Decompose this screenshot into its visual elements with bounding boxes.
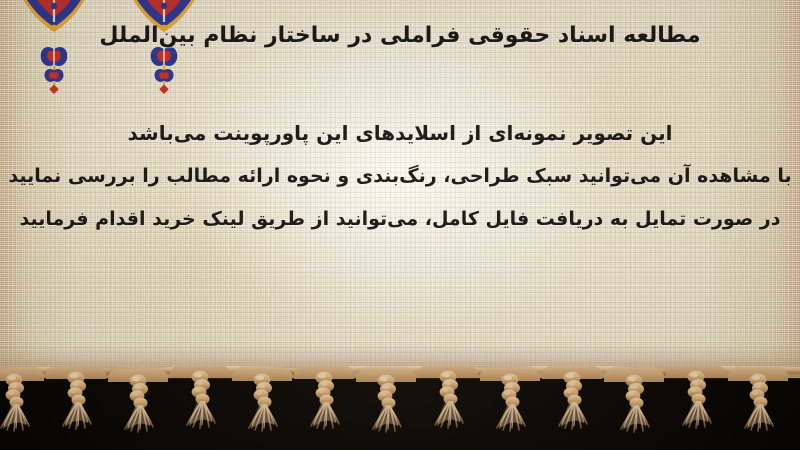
body-line-3: در صورت تمایل به دریافت فایل کامل، می‌تو… — [0, 198, 800, 241]
slide-canvas: مطالعه اسناد حقوقی فراملی در ساختار نظام… — [0, 0, 800, 450]
body-line-2: با مشاهده آن می‌توانید سبک طراحی، رنگ‌بن… — [0, 155, 800, 198]
carpet-fringe — [0, 366, 800, 450]
text-layer: مطالعه اسناد حقوقی فراملی در ساختار نظام… — [0, 0, 800, 378]
slide-title: مطالعه اسناد حقوقی فراملی در ساختار نظام… — [22, 22, 778, 50]
slide-body: این تصویر نمونه‌ای از اسلایدهای این پاور… — [0, 112, 800, 241]
body-line-1: این تصویر نمونه‌ای از اسلایدهای این پاور… — [0, 112, 800, 155]
carpet-fringe-tassels-icon — [0, 366, 800, 450]
tassel-row — [0, 366, 788, 432]
